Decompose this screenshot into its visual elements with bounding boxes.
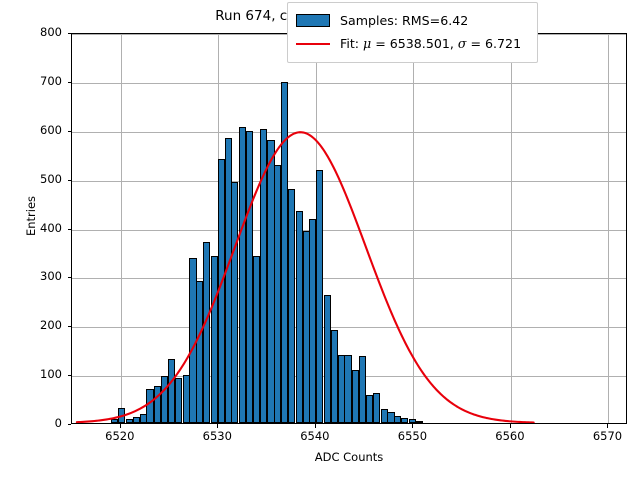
legend: Samples: RMS=6.42 Fit: μ = 6538.501, σ =… [287, 2, 538, 63]
y-tick-label: 200 [2, 318, 62, 332]
y-tick-mark [68, 229, 72, 230]
x-tick-mark [412, 424, 413, 428]
x-tick-mark [217, 424, 218, 428]
gaussian-fit-curve [72, 34, 626, 423]
histogram-figure: Run 674, channel063, Pedestal 6520653065… [0, 0, 640, 480]
x-tick-mark [315, 424, 316, 428]
legend-line-icon [296, 37, 330, 51]
x-axis-label: ADC Counts [71, 450, 627, 464]
y-axis-label: Entries [24, 116, 38, 316]
x-tick-label: 6570 [572, 429, 640, 443]
legend-label-fit: Fit: μ = 6538.501, σ = 6.721 [340, 36, 521, 51]
y-tick-mark [68, 375, 72, 376]
y-tick-label: 100 [2, 367, 62, 381]
x-tick-label: 6560 [475, 429, 545, 443]
y-tick-label: 700 [2, 74, 62, 88]
legend-label-samples: Samples: RMS=6.42 [340, 13, 468, 28]
y-tick-mark [68, 277, 72, 278]
x-tick-mark [120, 424, 121, 428]
y-tick-mark [68, 131, 72, 132]
y-tick-mark [68, 33, 72, 34]
x-tick-label: 6530 [182, 429, 252, 443]
y-tick-label: 800 [2, 25, 62, 39]
y-tick-mark [68, 82, 72, 83]
x-tick-label: 6550 [377, 429, 447, 443]
x-tick-label: 6540 [280, 429, 350, 443]
y-tick-mark [68, 326, 72, 327]
legend-item-samples: Samples: RMS=6.42 [296, 9, 529, 32]
y-tick-mark [68, 424, 72, 425]
y-tick-label: 0 [2, 416, 62, 430]
legend-swatch-icon [296, 14, 330, 27]
plot-area [71, 33, 627, 424]
x-tick-mark [510, 424, 511, 428]
x-tick-label: 6520 [85, 429, 155, 443]
legend-item-fit: Fit: μ = 6538.501, σ = 6.721 [296, 32, 529, 55]
y-tick-mark [68, 180, 72, 181]
x-tick-mark [607, 424, 608, 428]
